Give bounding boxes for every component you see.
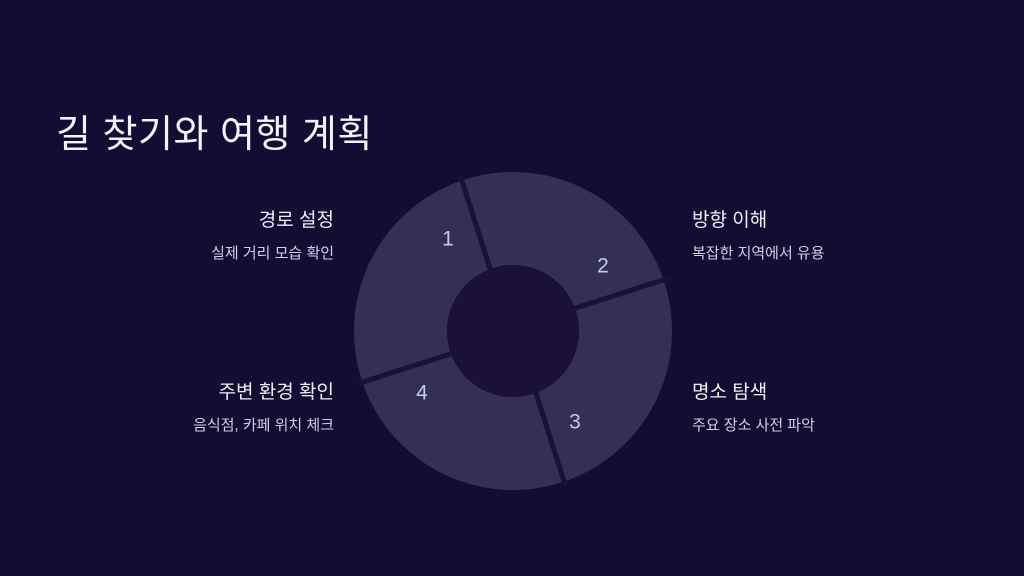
callout-3-title: 명소 탐색 xyxy=(692,380,992,406)
callout-4-title: 주변 환경 확인 xyxy=(34,380,334,406)
donut-process-diagram: 1 2 3 4 xyxy=(354,172,672,490)
donut-chart-svg xyxy=(354,172,672,490)
donut-center-hub xyxy=(447,265,579,397)
callout-1-description: 실제 거리 모습 확인 xyxy=(34,243,334,264)
callout-1-title: 경로 설정 xyxy=(34,208,334,234)
slide-canvas: 길 찾기와 여행 계획 1 2 xyxy=(0,0,1024,576)
callout-segment-1: 경로 설정 실제 거리 모습 확인 xyxy=(34,208,334,264)
callout-2-title: 방향 이해 xyxy=(692,208,992,234)
page-title: 길 찾기와 여행 계획 xyxy=(56,103,373,158)
callout-4-description: 음식점, 카페 위치 체크 xyxy=(34,415,334,436)
callout-2-description: 복잡한 지역에서 유용 xyxy=(692,243,992,264)
callout-segment-3: 명소 탐색 주요 장소 사전 파악 xyxy=(692,380,992,436)
callout-3-description: 주요 장소 사전 파악 xyxy=(692,415,992,436)
callout-segment-4: 주변 환경 확인 음식점, 카페 위치 체크 xyxy=(34,380,334,436)
callout-segment-2: 방향 이해 복잡한 지역에서 유용 xyxy=(692,208,992,264)
